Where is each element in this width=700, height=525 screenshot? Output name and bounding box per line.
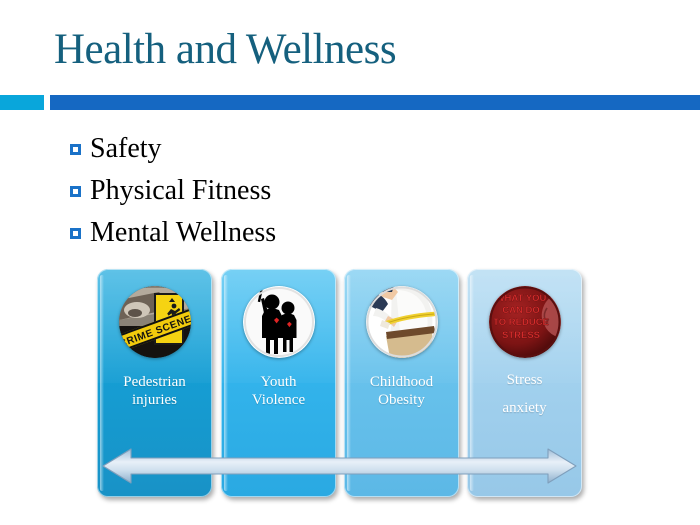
diagram-card-childhood-obesity[interactable]: Childhood Obesity: [344, 269, 459, 497]
page-title: Health and Wellness: [54, 28, 396, 71]
diagram-card-youth-violence[interactable]: Youth Violence: [221, 269, 336, 497]
divider-accent-segment: [0, 95, 44, 110]
diagram-card-stress-anxiety[interactable]: WHAT YOU CAN DO TO REDUCE STRESS WHAT YO…: [467, 269, 582, 497]
square-bullet-icon: [70, 186, 81, 197]
bullet-label: Physical Fitness: [90, 177, 271, 205]
diagram-card-pedestrian-injuries[interactable]: CRIME SCENE Pedestrian injuries: [97, 269, 212, 497]
youth-violence-photo: [243, 286, 315, 358]
waist-measure-icon: [366, 286, 438, 358]
stress-anxiety-photo: WHAT YOU CAN DO TO REDUCE STRESS WHAT YO…: [489, 286, 561, 358]
svg-text:TO REDUCE: TO REDUCE: [493, 317, 549, 328]
childhood-obesity-photo: [366, 286, 438, 358]
svg-text:STRESS: STRESS: [501, 330, 539, 341]
card-label: Pedestrian injuries: [101, 373, 208, 410]
list-item: Safety: [70, 128, 630, 170]
card-label: Youth Violence: [225, 373, 332, 410]
square-bullet-icon: [70, 144, 81, 155]
card-label-line1: Stress: [471, 367, 578, 395]
pedestrian-injuries-photo: CRIME SCENE: [119, 286, 191, 358]
svg-text:CAN DO: CAN DO: [502, 305, 539, 316]
slide: Health and Wellness Safety Physical Fitn…: [0, 0, 700, 525]
reduce-stress-poster-icon: WHAT YOU CAN DO TO REDUCE STRESS WHAT YO…: [489, 286, 561, 358]
bullet-label: Mental Wellness: [90, 219, 276, 247]
divider-main-bar: [50, 95, 700, 110]
square-bullet-icon: [70, 228, 81, 239]
bullet-list: Safety Physical Fitness Mental Wellness: [70, 128, 630, 254]
crime-scene-icon: CRIME SCENE: [119, 286, 191, 358]
card-label-line1: Pedestrian: [101, 373, 208, 391]
card-label-line2: Violence: [225, 391, 332, 409]
list-item: Mental Wellness: [70, 212, 630, 254]
youth-silhouettes-icon: [243, 286, 315, 358]
card-label: Childhood Obesity: [348, 373, 455, 410]
card-label: Stress anxiety: [471, 367, 578, 423]
process-diagram: CRIME SCENE Pedestrian injuries: [97, 269, 582, 497]
card-label-line2: Obesity: [348, 391, 455, 409]
title-divider-bar: [0, 95, 700, 110]
card-label-line2: injuries: [101, 391, 208, 409]
list-item: Physical Fitness: [70, 170, 630, 212]
card-label-line1: Childhood: [348, 373, 455, 391]
bullet-label: Safety: [90, 135, 162, 163]
card-label-line1: Youth: [225, 373, 332, 391]
card-label-line2: anxiety: [471, 395, 578, 423]
